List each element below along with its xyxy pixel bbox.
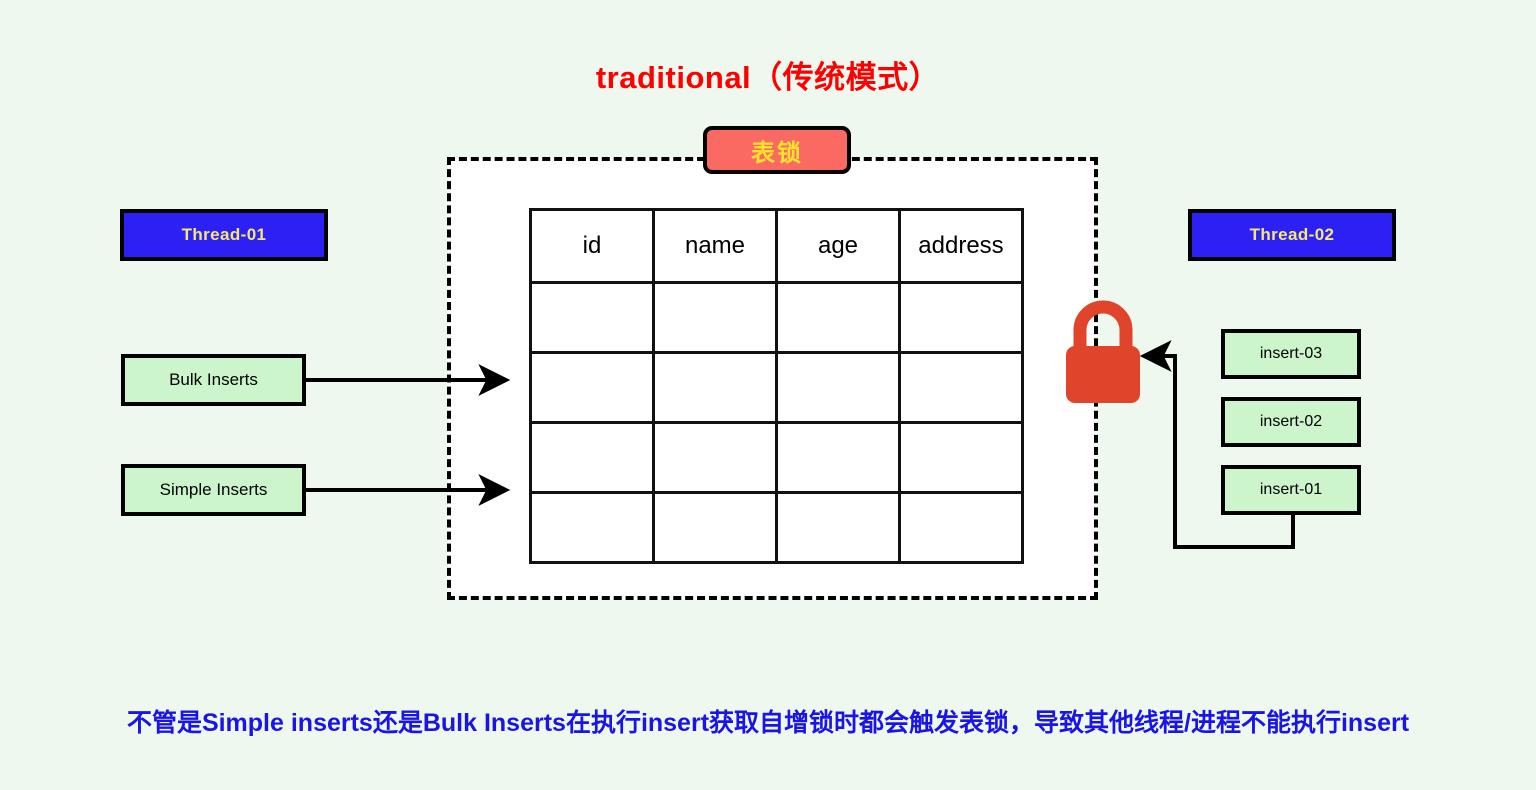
- thread-01-box: Thread-01: [120, 209, 328, 261]
- table-cell: [777, 493, 900, 563]
- arrow-inserts-to-lock: [1145, 356, 1293, 547]
- table-row: [531, 283, 1023, 353]
- table-header-cell-age: age: [777, 210, 900, 283]
- table-cell: [531, 493, 654, 563]
- table-cell: [777, 423, 900, 493]
- table-cell: [531, 423, 654, 493]
- table-cell: [531, 353, 654, 423]
- table-cell: [900, 493, 1023, 563]
- table-cell: [777, 283, 900, 353]
- table-cell: [654, 493, 777, 563]
- table-lock-badge: 表锁: [703, 126, 851, 174]
- table-cell: [777, 353, 900, 423]
- table-row: [531, 493, 1023, 563]
- table-header-cell-id: id: [531, 210, 654, 283]
- insert-03-box: insert-03: [1221, 329, 1361, 379]
- table-cell: [900, 423, 1023, 493]
- thread-02-box: Thread-02: [1188, 209, 1396, 261]
- table-cell: [654, 283, 777, 353]
- insert-01-box: insert-01: [1221, 465, 1361, 515]
- diagram-caption: 不管是Simple inserts还是Bulk Inserts在执行insert…: [0, 703, 1536, 739]
- diagram-title: traditional（传统模式）: [0, 52, 1536, 97]
- table-cell: [900, 283, 1023, 353]
- table-cell: [531, 283, 654, 353]
- table-header-row: id name age address: [531, 210, 1023, 283]
- data-table: id name age address: [529, 208, 1024, 564]
- diagram-canvas: traditional（传统模式） id name age address: [0, 0, 1536, 790]
- table-cell: [900, 353, 1023, 423]
- simple-inserts-box: Simple Inserts: [121, 464, 306, 516]
- table-header-cell-name: name: [654, 210, 777, 283]
- insert-02-box: insert-02: [1221, 397, 1361, 447]
- table-cell: [654, 353, 777, 423]
- table-cell: [654, 423, 777, 493]
- bulk-inserts-box: Bulk Inserts: [121, 354, 306, 406]
- table-header-cell-address: address: [900, 210, 1023, 283]
- table-row: [531, 353, 1023, 423]
- table-row: [531, 423, 1023, 493]
